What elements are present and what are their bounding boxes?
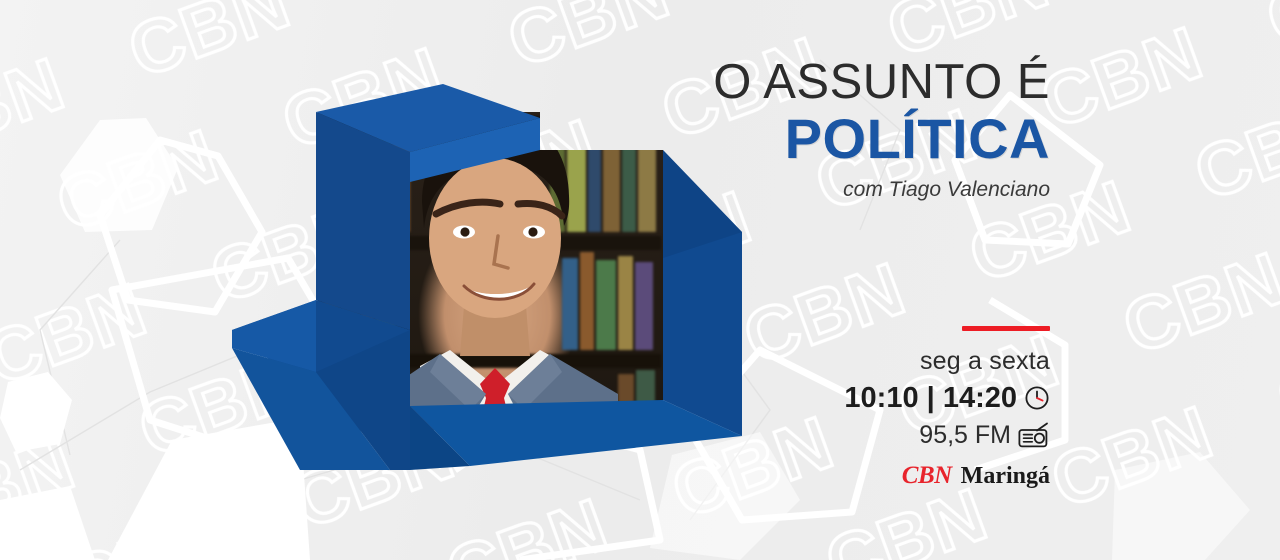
program-banner: CBN bbox=[0, 0, 1280, 560]
clock-icon bbox=[1024, 385, 1050, 411]
station-brand-cbn: CBN bbox=[902, 462, 952, 490]
station-city-maringa: Maringá bbox=[961, 463, 1050, 490]
schedule-times-label: 10:10 | 14:20 bbox=[844, 382, 1017, 415]
schedule-days: seg a sexta bbox=[780, 348, 1050, 376]
page-title-line2: POLÍTICA bbox=[640, 109, 1050, 168]
page-title-line1: O ASSUNTO É bbox=[640, 58, 1050, 107]
schedule-block: seg a sexta 10:10 | 14:20 95,5 FM CBN M bbox=[780, 326, 1050, 490]
title-block: O ASSUNTO É POLÍTICA com Tiago Valencian… bbox=[640, 58, 1050, 203]
red-rule-divider bbox=[962, 326, 1050, 331]
host-credit: com Tiago Valenciano bbox=[640, 177, 1050, 202]
radio-icon bbox=[1018, 422, 1050, 448]
station-logo: CBN Maringá bbox=[780, 462, 1050, 490]
schedule-frequency-row: 95,5 FM bbox=[780, 421, 1050, 450]
red-divider-wrap bbox=[780, 326, 1050, 348]
schedule-times-row: 10:10 | 14:20 bbox=[780, 382, 1050, 415]
frequency-label: 95,5 FM bbox=[919, 421, 1011, 450]
